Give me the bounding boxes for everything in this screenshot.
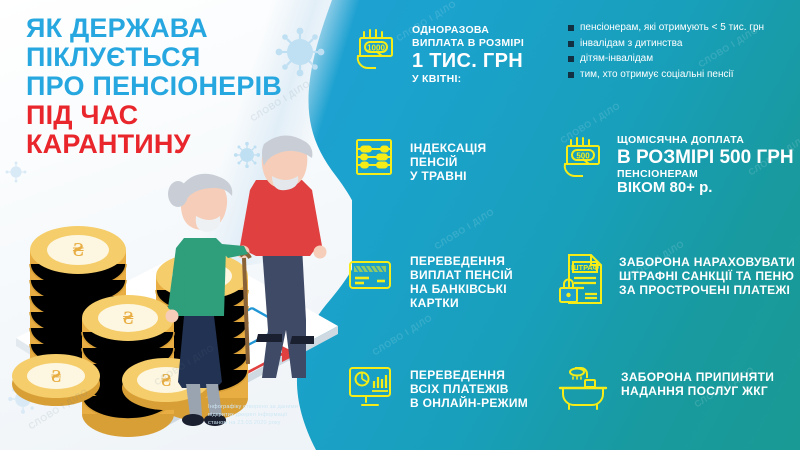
svg-text:₴: ₴ — [123, 308, 134, 329]
svg-text:₴: ₴ — [161, 370, 171, 390]
measure-line: ЗАБОРОНА НАРАХОВУВАТИ — [619, 255, 795, 269]
measure-line: ВІКОМ 80+ р. — [617, 180, 794, 196]
page-title: ЯК ДЕРЖАВА ПІКЛУЄТЬСЯ ПРО ПЕНСІОНЕРІВ ПІ… — [26, 14, 336, 159]
hand-holding-banknote-1000-icon: 1000 — [348, 22, 402, 76]
credit-card-icon — [344, 253, 396, 297]
hand-holding-banknote-500-icon: 500 — [555, 130, 609, 184]
bathtub-shower-icon — [555, 360, 611, 412]
source-note: Інфографіку створено за даними відкритих… — [208, 403, 348, 428]
measure-line: У ТРАВНІ — [410, 169, 486, 183]
svg-text:₴: ₴ — [51, 366, 61, 386]
measure-line: ВИПЛАТ ПЕНСІЙ — [410, 268, 513, 282]
measure-line: НАДАННЯ ПОСЛУГ ЖКГ — [621, 384, 774, 398]
measure-line: ЩОМІСЯЧНА ДОПЛАТА — [617, 134, 794, 147]
measure-one-time-payment[interactable]: 1000 ОДНОРАЗОВА ВИПЛАТА В РОЗМІРІ 1 ТИС.… — [348, 22, 524, 86]
measure-text: ІНДЕКСАЦІЯ ПЕНСІЙ У ТРАВНІ — [410, 133, 486, 183]
measure-line: ВИПЛАТА В РОЗМІРІ — [412, 37, 524, 50]
title-line-2: ПІКЛУЄТЬСЯ — [26, 43, 336, 72]
measure-line: В ОНЛАЙН-РЕЖИМ — [410, 396, 528, 410]
infographic-canvas: ЯК ДЕРЖАВА ПІКЛУЄТЬСЯ ПРО ПЕНСІОНЕРІВ ПІ… — [0, 0, 800, 450]
measure-line-highlight: В РОЗМІРІ 500 ГРН — [617, 148, 794, 167]
abacus-icon — [350, 133, 398, 181]
measure-line: ПЕРЕВЕДЕННЯ — [410, 368, 528, 382]
svg-text:₴: ₴ — [72, 239, 84, 261]
measure-monthly-supplement[interactable]: 500 ЩОМІСЯЧНА ДОПЛАТА В РОЗМІРІ 500 ГРН … — [555, 130, 794, 196]
title-line-4: ПІД ЧАС — [26, 101, 336, 130]
measure-line: ПЕНСІЙ — [410, 155, 486, 169]
measure-line: ОДНОРАЗОВА — [412, 24, 524, 37]
measures-list: 1000 ОДНОРАЗОВА ВИПЛАТА В РОЗМІРІ 1 ТИС.… — [340, 0, 800, 450]
list-item: інвалідам з дитинства — [568, 36, 800, 52]
measure-pension-indexation[interactable]: ІНДЕКСАЦІЯ ПЕНСІЙ У ТРАВНІ — [350, 133, 486, 183]
monitor-charts-icon — [344, 363, 396, 411]
measure-bank-cards[interactable]: ПЕРЕВЕДЕННЯ ВИПЛАТ ПЕНСІЙ НА БАНКІВСЬКІ … — [344, 253, 513, 310]
measure-line: НА БАНКІВСЬКІ — [410, 282, 513, 296]
title-line-5: КАРАНТИНУ — [26, 130, 336, 159]
measure-line: ЗА ПРОСТРОЧЕНІ ПЛАТЕЖІ — [619, 283, 795, 297]
measure-no-penalties[interactable]: ШТРАФ ЗАБОРОНА НАРАХОВУВАТИ ШТРАФНІ САНК… — [555, 250, 795, 306]
measure-line: ПЕРЕВЕДЕННЯ — [410, 254, 513, 268]
list-item: дітям-інвалідам — [568, 51, 800, 67]
measure-line: ЗАБОРОНА ПРИПИНЯТИ — [621, 370, 774, 384]
beneficiaries-list: пенсіонерам, які отримують < 5 тис. грн … — [568, 20, 800, 82]
measure-line: ІНДЕКСАЦІЯ — [410, 141, 486, 155]
measure-text: ПЕРЕВЕДЕННЯ ВИПЛАТ ПЕНСІЙ НА БАНКІВСЬКІ … — [410, 253, 513, 310]
measure-utilities-continue[interactable]: ЗАБОРОНА ПРИПИНЯТИ НАДАННЯ ПОСЛУГ ЖКГ — [555, 360, 774, 412]
title-line-1: ЯК ДЕРЖАВА — [26, 14, 336, 43]
source-note-line: Інфографіку створено за даними — [208, 403, 348, 411]
measure-line: ШТРАФНІ САНКЦІЇ ТА ПЕНЮ — [619, 269, 795, 283]
list-item: пенсіонерам, які отримують < 5 тис. грн — [568, 20, 800, 36]
measure-online-payments[interactable]: ПЕРЕВЕДЕННЯ ВСІХ ПЛАТЕЖІВ В ОНЛАЙН-РЕЖИМ — [344, 363, 528, 411]
measure-line: КАРТКИ — [410, 296, 513, 310]
title-line-3: ПРО ПЕНСІОНЕРІВ — [26, 72, 336, 101]
measure-text: ОДНОРАЗОВА ВИПЛАТА В РОЗМІРІ 1 ТИС. ГРН … — [412, 22, 524, 86]
measure-text: ЗАБОРОНА НАРАХОВУВАТИ ШТРАФНІ САНКЦІЇ ТА… — [619, 250, 795, 297]
measure-text: ПЕРЕВЕДЕННЯ ВСІХ ПЛАТЕЖІВ В ОНЛАЙН-РЕЖИМ — [410, 363, 528, 410]
pensioners-illustration: ₴ ₴ — [0, 120, 352, 450]
source-note-line: станом на 23.03.2020 року — [208, 419, 348, 427]
measure-line: У КВІТНІ: — [412, 73, 524, 86]
list-item: тим, хто отримує соціальні пенсії — [568, 67, 800, 83]
measure-text: ЗАБОРОНА ПРИПИНЯТИ НАДАННЯ ПОСЛУГ ЖКГ — [621, 360, 774, 398]
source-note-line: відкритих джерел інформації — [208, 411, 348, 419]
measure-line-highlight: 1 ТИС. ГРН — [412, 51, 524, 72]
svg-text:ШТРАФ: ШТРАФ — [571, 263, 600, 272]
measure-text: ЩОМІСЯЧНА ДОПЛАТА В РОЗМІРІ 500 ГРН ПЕНС… — [617, 130, 794, 196]
measure-line: ВСІХ ПЛАТЕЖІВ — [410, 382, 528, 396]
fine-document-lock-icon: ШТРАФ — [555, 250, 609, 306]
